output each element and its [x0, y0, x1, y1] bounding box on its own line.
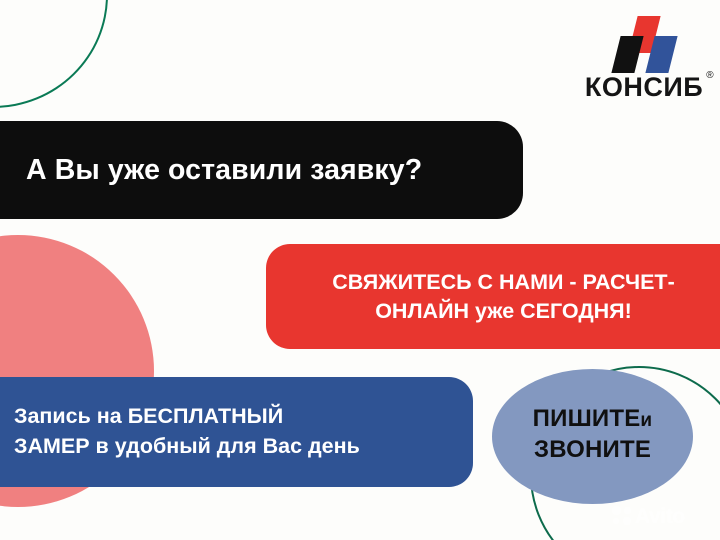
registered-trademark-symbol: ®: [706, 71, 714, 81]
logo-wordmark: КОНСИБ ®: [585, 74, 703, 101]
logo-mark-icon: [608, 16, 680, 72]
brand-logo: КОНСИБ ®: [580, 16, 708, 101]
circle-callout-text: ПИШИТЕи ЗВОНИТЕ: [492, 404, 693, 465]
call-to-action-line-2: ОНЛАЙН уже СЕГОДНЯ!: [375, 299, 632, 323]
free-measurement-line-2: ЗАМЕР в удобный для Вас день: [14, 434, 360, 458]
free-measurement-banner: Запись на БЕСПЛАТНЫЙ ЗАМЕР в удобный для…: [0, 377, 473, 487]
circle-callout-conjunction: и: [640, 410, 652, 431]
four-dots-icon: [612, 506, 633, 527]
avito-watermark-label: Avito: [635, 506, 685, 527]
headline-banner: А Вы уже оставили заявку?: [0, 121, 523, 219]
call-to-action-text: СВЯЖИТЕСЬ С НАМИ - РАСЧЕТ- ОНЛАЙН уже СЕ…: [266, 268, 720, 325]
advertisement-poster: КОНСИБ ® А Вы уже оставили заявку? СВЯЖИ…: [0, 0, 720, 540]
call-to-action-line-1: СВЯЖИТЕСЬ С НАМИ - РАСЧЕТ-: [332, 270, 674, 294]
circle-callout-line-1-main: ПИШИТЕ: [533, 405, 641, 432]
circle-callout-line-2: ЗВОНИТЕ: [534, 436, 651, 463]
logo-wordmark-text: КОНСИБ: [585, 72, 703, 102]
call-to-action-banner: СВЯЖИТЕСЬ С НАМИ - РАСЧЕТ- ОНЛАЙН уже СЕ…: [266, 244, 720, 349]
free-measurement-text: Запись на БЕСПЛАТНЫЙ ЗАМЕР в удобный для…: [0, 402, 360, 461]
headline-text: А Вы уже оставили заявку?: [0, 154, 422, 187]
free-measurement-line-1: Запись на БЕСПЛАТНЫЙ: [14, 404, 283, 428]
green-ring-decoration-top-left: [0, 0, 108, 108]
logo-black-tile-icon: [611, 36, 643, 73]
avito-watermark: Avito: [612, 506, 685, 527]
